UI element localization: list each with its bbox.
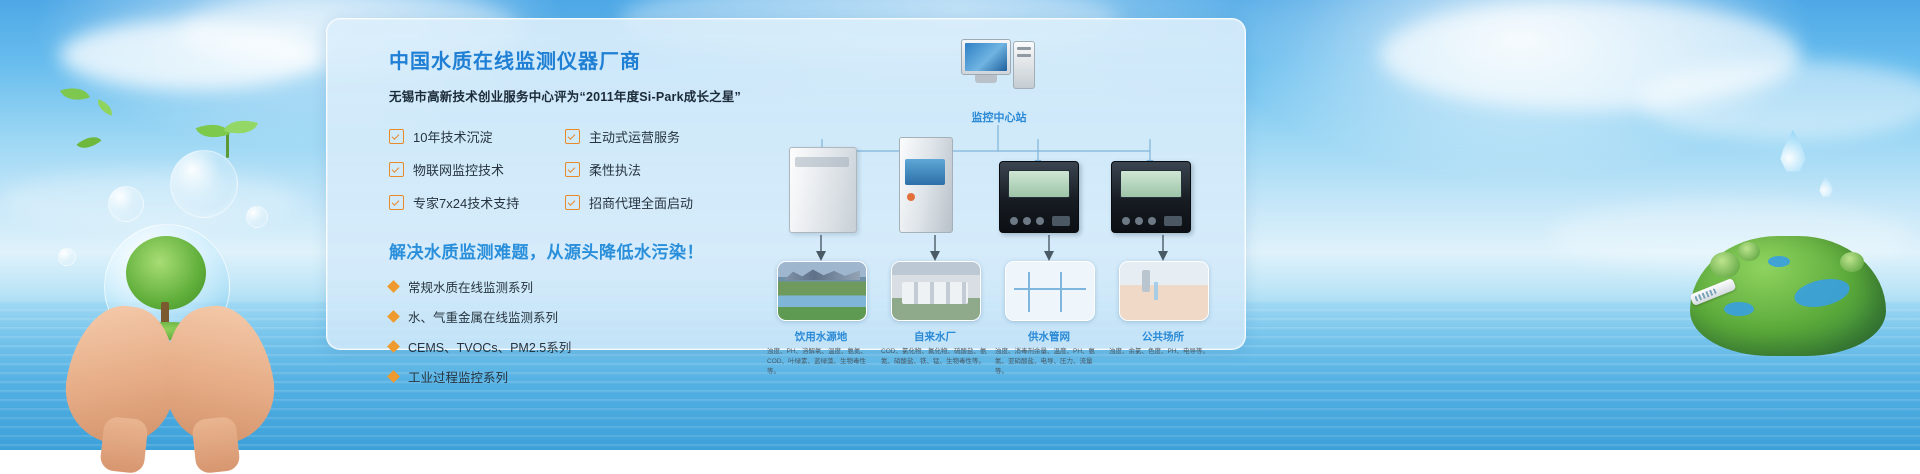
sampling-cabinet-device-icon — [899, 137, 951, 233]
analyzer-device-icon — [1111, 161, 1189, 233]
diamond-bullet-icon — [387, 370, 400, 383]
bubble-icon — [170, 150, 238, 218]
page-title: 中国水质在线监测仪器厂商 — [389, 45, 769, 74]
list-item: 水、气重金属在线监测系列 — [389, 307, 769, 326]
scene-title: 自来水厂 — [879, 329, 991, 344]
checkbox-icon — [389, 129, 404, 144]
scene-description: 浊度、余氯、色度、PH、电导等。 — [1107, 347, 1219, 357]
scene-photo-drinking-water-source — [777, 261, 867, 321]
list-item-label: 水、气重金属在线监测系列 — [408, 307, 558, 326]
checkbox-icon — [565, 162, 580, 177]
checkbox-icon — [389, 162, 404, 177]
scene-photo-public-place — [1119, 261, 1209, 321]
feature-label: 专家7x24技术支持 — [413, 193, 519, 212]
feature-item: 10年技术沉淀 — [389, 127, 565, 146]
page-subtitle: 无锡市高新技术创业服务中心评为“2011年度Si-Park成长之星” — [389, 86, 769, 105]
feature-checklist: 10年技术沉淀 物联网监控技术 专家7x24技术支持 主动式运营服务 — [389, 127, 769, 212]
scene-title: 供水管网 — [993, 329, 1105, 344]
feature-item: 专家7x24技术支持 — [389, 193, 565, 212]
hero-card: 中国水质在线监测仪器厂商 无锡市高新技术创业服务中心评为“2011年度Si-Pa… — [326, 18, 1246, 350]
scene-photo-supply-network — [1005, 261, 1095, 321]
feature-label: 柔性执法 — [589, 160, 641, 179]
water-cabinet-device-icon — [789, 147, 855, 233]
list-item-label: 常规水质在线监测系列 — [408, 277, 533, 296]
bubble-icon — [108, 186, 144, 222]
feature-item: 主动式运营服务 — [565, 127, 693, 146]
hero-text-column: 中国水质在线监测仪器厂商 无锡市高新技术创业服务中心评为“2011年度Si-Pa… — [389, 45, 769, 386]
feature-label: 物联网监控技术 — [413, 160, 504, 179]
green-earth-icon — [1690, 236, 1886, 356]
list-item: 常规水质在线监测系列 — [389, 277, 769, 296]
feature-label: 招商代理全面启动 — [589, 193, 693, 212]
checkbox-icon — [565, 129, 580, 144]
cloud — [1640, 60, 1920, 140]
hands-holding-tree-globe-icon — [68, 222, 278, 450]
list-item-label: CEMS、TVOCs、PM2.5系列 — [408, 337, 571, 356]
diamond-bullet-icon — [387, 280, 400, 293]
feature-item: 柔性执法 — [565, 160, 693, 179]
scene-caption: 供水管网 浊度、消毒剂余量、温度、PH、氨氮、亚硝酸盐、电导、压力、流量等。 — [993, 329, 1105, 377]
feature-label: 主动式运营服务 — [589, 127, 680, 146]
diamond-bullet-icon — [387, 310, 400, 323]
checkbox-icon — [565, 195, 580, 210]
scene-description: COD、氯化物、氟化物、硫酸盐、氨氮、硝酸盐、铁、锰、生物毒性等。 — [879, 347, 991, 367]
scene-photo-row — [759, 261, 1229, 339]
scene-title: 公共场所 — [1107, 329, 1219, 344]
scene-caption: 自来水厂 COD、氯化物、氟化物、硫酸盐、氨氮、硝酸盐、铁、锰、生物毒性等。 — [879, 329, 991, 367]
feature-column-right: 主动式运营服务 柔性执法 招商代理全面启动 — [565, 127, 693, 212]
checkbox-icon — [389, 195, 404, 210]
scene-title: 饮用水源地 — [765, 329, 877, 344]
monitoring-center-computer-icon — [961, 39, 1035, 87]
device-row — [759, 137, 1229, 233]
scene-photo-water-plant — [891, 261, 981, 321]
list-item-label: 工业过程监控系列 — [408, 367, 508, 386]
scene-caption: 饮用水源地 浊度、PH、溶解氧、温度、氨氮、COD、叶绿素、蓝绿藻、生物毒性等。 — [765, 329, 877, 377]
feature-column-left: 10年技术沉淀 物联网监控技术 专家7x24技术支持 — [389, 127, 565, 212]
system-diagram: 监控中心站 — [759, 33, 1229, 339]
list-item: 工业过程监控系列 — [389, 367, 769, 386]
analyzer-device-icon — [999, 161, 1077, 233]
monitoring-center-label: 监控中心站 — [929, 109, 1069, 125]
diamond-bullet-icon — [387, 340, 400, 353]
feature-label: 10年技术沉淀 — [413, 127, 492, 146]
product-line-list: 常规水质在线监测系列 水、气重金属在线监测系列 CEMS、TVOCs、PM2.5… — [389, 277, 769, 386]
feature-item: 物联网监控技术 — [389, 160, 565, 179]
section-headline: 解决水质监测难题，从源头降低水污染！ — [389, 238, 769, 263]
scene-description: 浊度、PH、溶解氧、温度、氨氮、COD、叶绿素、蓝绿藻、生物毒性等。 — [765, 347, 877, 377]
feature-item: 招商代理全面启动 — [565, 193, 693, 212]
scene-caption: 公共场所 浊度、余氯、色度、PH、电导等。 — [1107, 329, 1219, 357]
scene-description: 浊度、消毒剂余量、温度、PH、氨氮、亚硝酸盐、电导、压力、流量等。 — [993, 347, 1105, 377]
list-item: CEMS、TVOCs、PM2.5系列 — [389, 337, 769, 356]
